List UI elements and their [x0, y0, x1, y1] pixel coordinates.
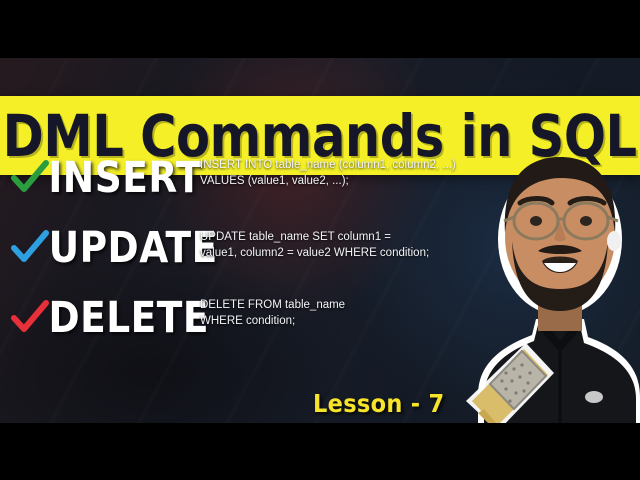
check-mark-icon-update	[11, 229, 49, 267]
letterbox-bottom	[0, 423, 640, 480]
command-syntax-delete: DELETE FROM table_name WHERE condition;	[200, 297, 500, 329]
letterbox-top	[0, 0, 640, 58]
microphone-icon	[462, 339, 558, 431]
command-keyword-delete: DELETE	[48, 297, 209, 340]
check-mark-icon-insert	[11, 159, 49, 197]
command-syntax-update: UPDATE table_name SET column1 = value1, …	[200, 229, 500, 261]
lesson-tag: Lesson - 7	[313, 391, 444, 416]
command-syntax-insert: INSERT INTO table_name (column1, column2…	[200, 157, 500, 189]
video-thumbnail: DML Commands in SQL INSERT INSERT INTO t…	[0, 0, 640, 480]
command-keyword-insert: INSERT	[48, 157, 202, 200]
command-keyword-update: UPDATE	[49, 227, 218, 270]
check-mark-icon-delete	[11, 299, 49, 337]
